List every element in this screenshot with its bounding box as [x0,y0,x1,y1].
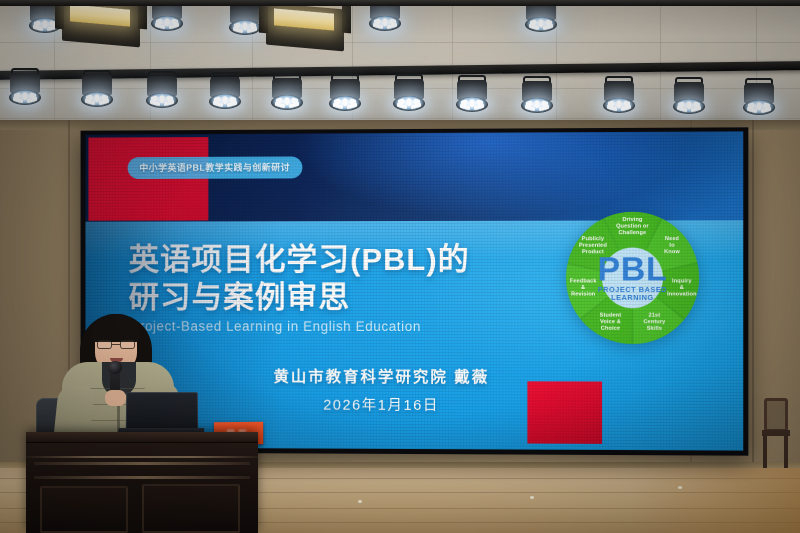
presenter-hair-fringe [93,326,139,339]
slide-presenter-line: 黄山市教育科学研究院 戴薇 [85,364,743,388]
ceiling [0,0,800,128]
fresnel-light-icon [62,2,140,44]
slide-subtitle: Project-Based Learning in English Educat… [131,319,529,334]
slide-title: 英语项目化学习(PBL)的 研习与案例审思 [129,241,547,317]
ceiling-rail [0,0,800,6]
wheel-center-title: PBL [598,251,668,289]
slide-title-line-2: 研习与案例审思 [129,279,547,317]
pbl-wheel-graphic: DrivingQuestion orChallengeNeedtoKnowInq… [565,210,701,345]
podium-edge-highlight [26,456,258,458]
podium-panel [142,484,240,533]
fresnel-light-icon [266,6,344,48]
podium-panel [40,486,128,533]
laptop-screen [126,392,198,430]
wheel-center-sub-2: LEARNING [611,293,654,302]
wooden-chair [758,398,792,470]
auditorium-scene: 中小学英语PBL教学实践与创新研讨 英语项目化学习(PBL)的 研习与案例审思 … [0,0,800,533]
podium [26,432,258,533]
wheel-segment-label-student-voice-choice: StudentVoice &Choice [600,313,622,332]
glasses-icon [97,340,135,349]
podium-top [26,432,258,443]
slide-title-line-1: 英语项目化学习(PBL)的 [129,241,547,279]
slide-event-badge: 中小学英语PBL教学实践与创新研讨 [128,156,302,179]
